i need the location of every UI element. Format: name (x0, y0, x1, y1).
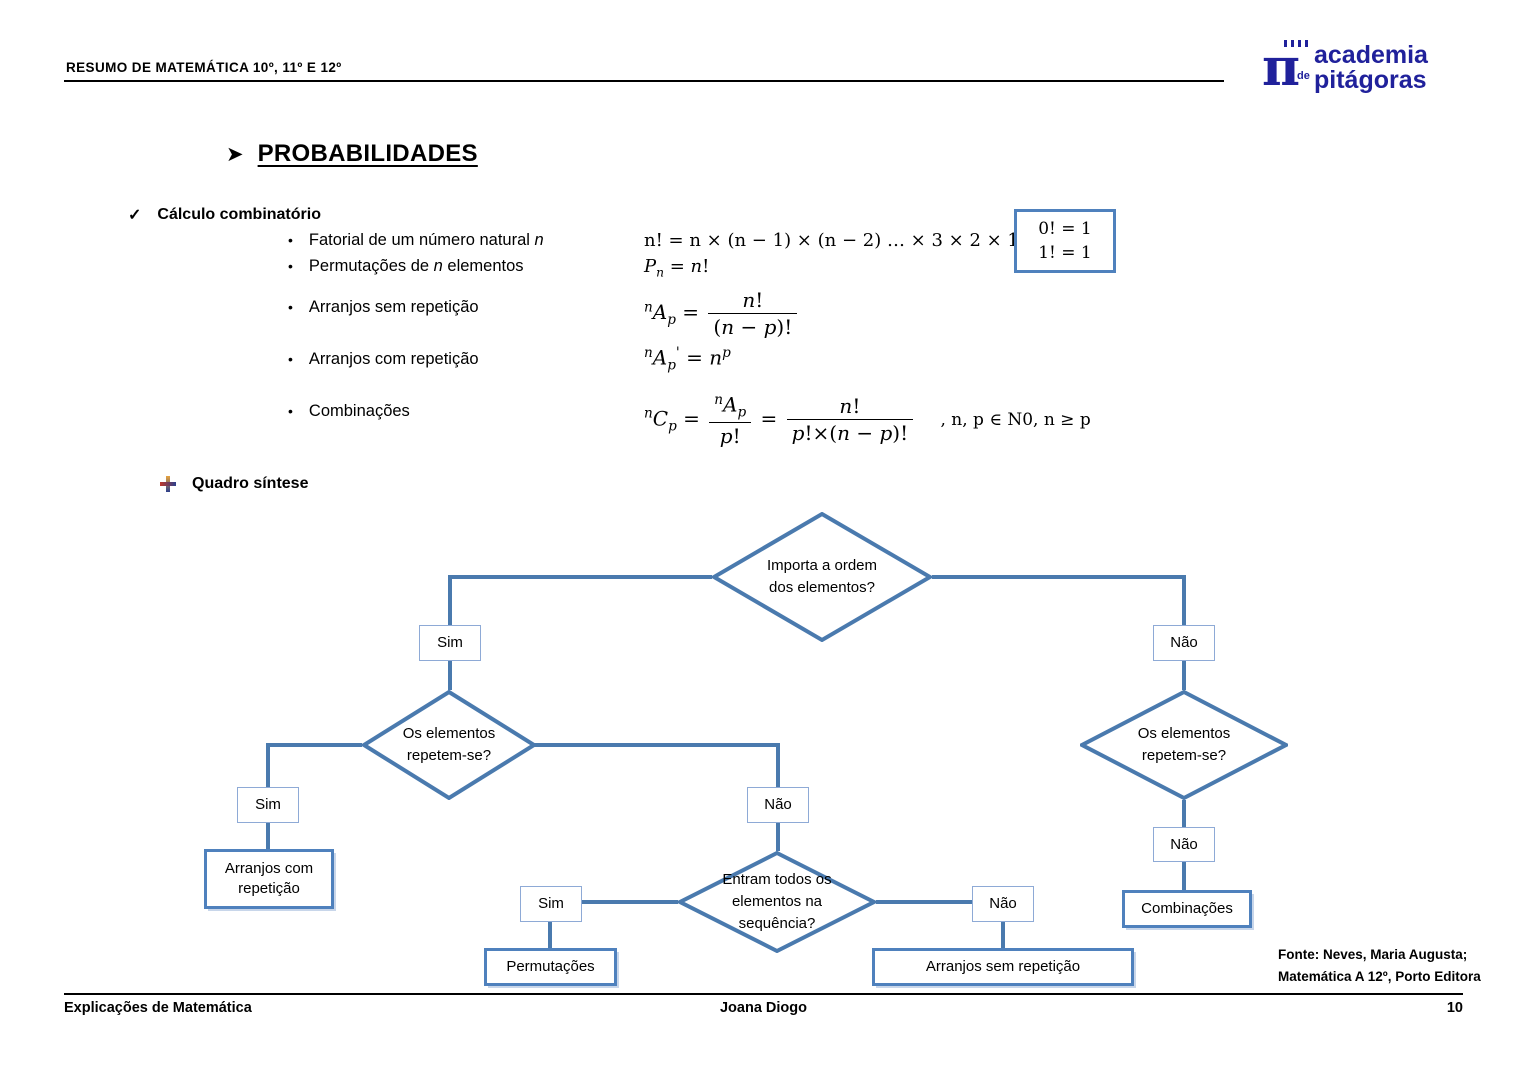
decision-repetem-se-direita-label: Os elementos repetem-se? (1080, 690, 1288, 800)
label-sim-repeticao: Sim (237, 787, 299, 823)
decision-entram-todos-label: Entram todos os elementos na sequência? (678, 851, 876, 953)
decision-repetem-se-esquerda: Os elementos repetem-se? (362, 690, 536, 800)
terminal-arranjos-sem-repeticao: Arranjos sem repetição (872, 948, 1134, 986)
label-sim-ordem: Sim (419, 625, 481, 661)
decision-repetem-se-esquerda-label: Os elementos repetem-se? (362, 690, 536, 800)
terminal-combinacoes: Combinações (1122, 890, 1252, 928)
decision-repetem-se-direita: Os elementos repetem-se? (1080, 690, 1288, 800)
decision-importa-ordem: Importa a ordem dos elementos? (712, 512, 932, 642)
label-sim-sequencia: Sim (520, 886, 582, 922)
label-nao-ordem: Não (1153, 625, 1215, 661)
terminal-arranjos-com-repeticao: Arranjos com repetição (204, 849, 334, 909)
label-nao-combinacoes: Não (1153, 827, 1215, 862)
label-nao-repeticao: Não (747, 787, 809, 823)
decision-importa-ordem-label: Importa a ordem dos elementos? (712, 512, 932, 642)
terminal-permutacoes: Permutações (484, 948, 617, 986)
decision-entram-todos: Entram todos os elementos na sequência? (678, 851, 876, 953)
label-nao-sequencia: Não (972, 886, 1034, 922)
